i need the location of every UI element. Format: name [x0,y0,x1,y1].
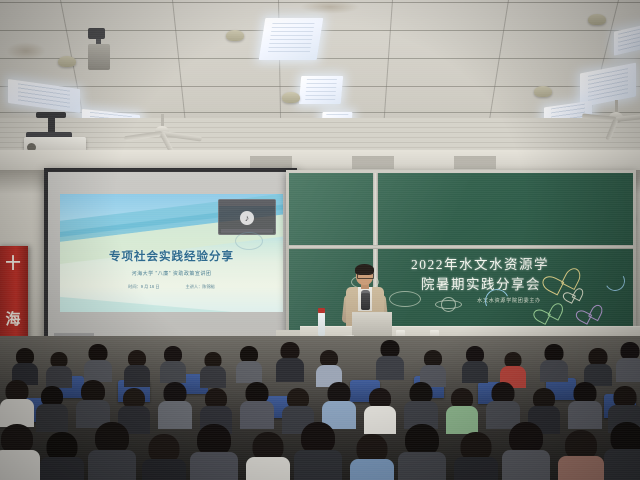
ceiling-fan [122,114,202,144]
projection-screen: ♪ 专项社会实践经验分享 河海大学 "八廉" 资助政策宣讲团 时间：9 月 16… [44,168,297,346]
audience-member [462,346,488,380]
audience-member [350,434,394,480]
smoke-detector-icon [534,86,552,97]
audience-member [446,388,478,432]
audience-member [88,422,136,480]
slide-meta-time: 时间：9 月 16 日 [128,284,159,290]
slide-wave-decoration [60,293,283,312]
audience-member [454,432,498,480]
audience-member [12,348,38,382]
audience-member [236,346,262,380]
audience-member [124,350,150,384]
music-note-icon: ♪ [240,211,254,225]
glasses-icon [357,273,374,279]
audience-member [558,430,604,480]
smoke-detector-icon [282,92,300,103]
lectern [352,312,392,338]
audience-member [584,348,612,384]
water-bottle-icon [318,312,325,336]
audience-member [0,380,34,424]
audience-member [142,434,186,480]
presentation-slide: ♪ 专项社会实践经验分享 河海大学 "八廉" 资助政策宣讲团 时间：9 月 16… [60,194,283,312]
audience-member [40,432,84,480]
ceiling-fan [576,100,640,130]
slide-title: 专项社会实践经验分享 [60,248,283,264]
microphone-icon [361,293,370,310]
audience-member [568,382,602,428]
audience-member [294,422,342,480]
audience-member [398,424,446,480]
audience-member [502,422,550,480]
audience-member [616,342,640,380]
ceiling-panel-light [299,76,343,104]
audience-member [0,424,40,480]
projection-screen-surface: ♪ 专项社会实践经验分享 河海大学 "八廉" 资助政策宣讲团 时间：9 月 16… [48,172,293,342]
smoke-detector-icon [226,30,244,41]
audience-member [316,350,342,384]
audience-member [500,352,526,386]
ceiling-speaker-box [88,28,105,39]
audience-member [420,350,446,384]
slide-meta-speaker: 主讲人：陈锦裕 [186,284,215,290]
audience-member [246,432,290,480]
media-widget-titlebar [219,200,275,206]
blackboard: 2022年水文水资源学 院暑期实践分享会 水文水资源学院团委主办 .heart[… [286,170,636,338]
water-bottle-cap [318,308,325,313]
media-player-widget[interactable]: ♪ [218,199,276,235]
banner-character-2: 海 [0,308,28,329]
chalk-planet-ring [435,300,462,309]
audience-area [0,336,640,480]
ceiling-speaker-body [88,44,110,70]
slide-subtitle: 河海大学 "八廉" 资助政策宣讲团 [60,270,283,277]
audience-member [240,382,274,428]
audience-member [540,344,568,380]
ceiling [0,0,640,172]
audience-member [158,382,192,428]
audience-member [84,344,112,380]
audience-member [190,424,238,480]
smoke-detector-icon [58,56,76,67]
audience-member [200,352,226,386]
audience-member [160,346,186,380]
banner-character-1: 十 [0,252,28,273]
audience-member [76,380,110,426]
audience-member [46,352,72,386]
audience-member [364,388,396,432]
slide-meta-row: 时间：9 月 16 日 主讲人：陈锦裕 [60,284,283,290]
blackboard-surface: 2022年水文水资源学 院暑期实践分享会 水文水资源学院团委主办 .heart[… [289,173,633,335]
lecture-hall-photo: ♪ 专项社会实践经验分享 河海大学 "八廉" 资助政策宣讲团 时间：9 月 16… [0,0,640,480]
audience-member [36,386,68,430]
audience-member [604,422,640,480]
ceiling-panel-light [259,18,324,60]
smoke-detector-icon [588,14,606,25]
audience-member [276,342,304,380]
audience-member [404,382,438,428]
audience-member [376,340,404,378]
chalk-cloud-doodle [389,291,421,307]
